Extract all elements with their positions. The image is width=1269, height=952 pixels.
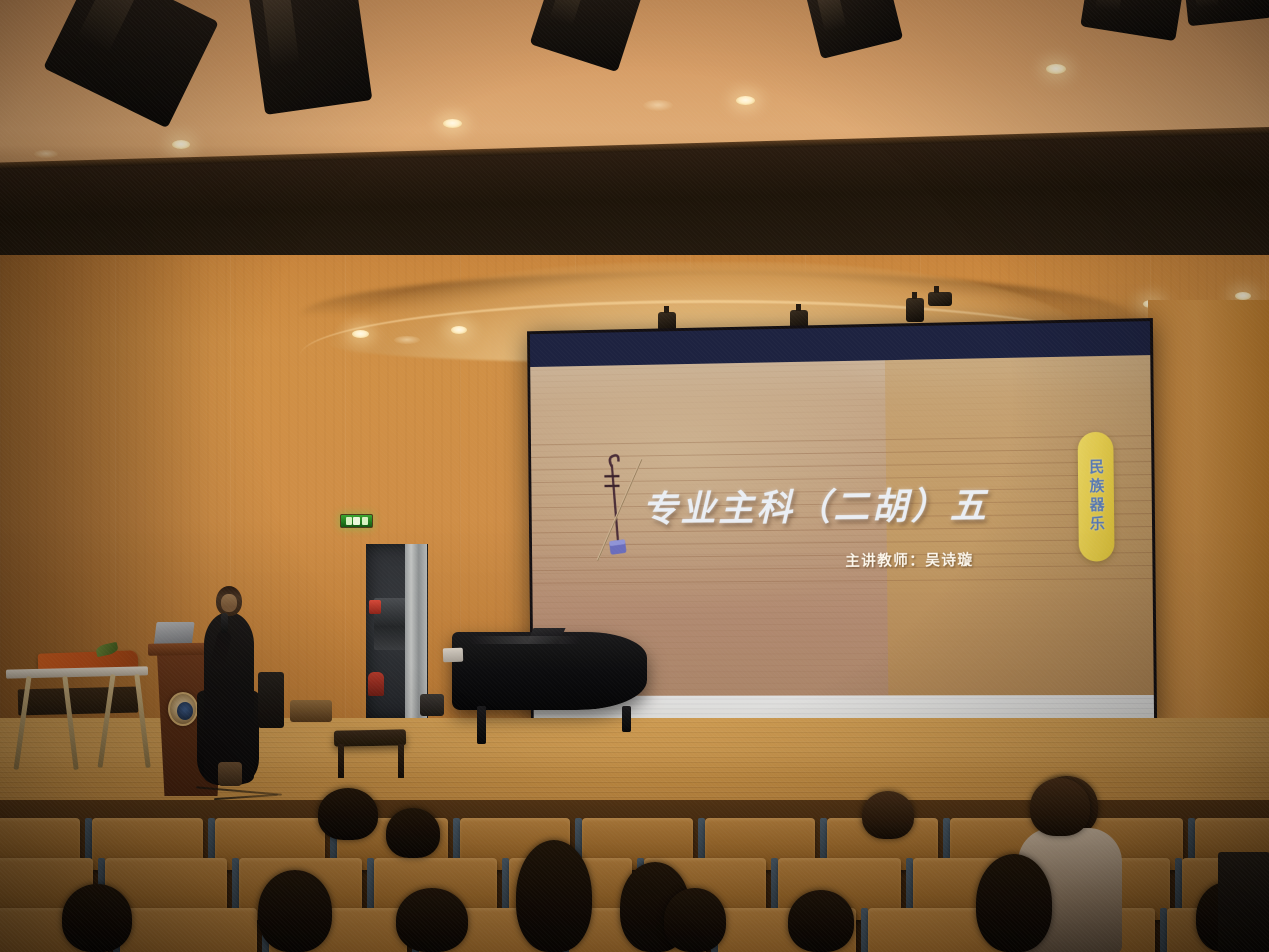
backstage-red-case [368, 672, 384, 696]
right-wall-panel [1148, 300, 1269, 735]
audience-head [976, 854, 1052, 952]
audience-head [664, 888, 726, 952]
ceiling-stage-light [248, 0, 373, 115]
cove-downlight [1235, 292, 1251, 300]
ceiling-vent [643, 100, 673, 111]
floor-bag [290, 700, 332, 722]
cove-downlight [451, 326, 467, 334]
ceiling-downlight [443, 119, 462, 128]
audience-seating [0, 800, 1269, 952]
presenter-face [221, 594, 237, 612]
ceiling-vent [34, 150, 58, 158]
audience-head [1030, 778, 1090, 836]
seat-divider [1160, 908, 1167, 952]
slide-category-badge-label: 民族器乐 [1085, 459, 1107, 535]
exit-arrow-icon [346, 517, 352, 525]
emergency-exit-sign [340, 514, 373, 528]
cove-stage-light [906, 298, 924, 322]
audience-head [258, 870, 332, 952]
backstage-red-object [369, 600, 381, 614]
audience-head [516, 840, 592, 952]
audience-head [862, 791, 914, 839]
audience-dark-object [1218, 852, 1269, 952]
lectern-emblem [168, 692, 198, 726]
audience-head [62, 884, 132, 952]
piano-leg [477, 706, 486, 744]
auditorium-seat [120, 908, 258, 952]
exit-door-icon [362, 517, 368, 525]
auditorium-photo: 专业主科（二胡）五 主讲教师：吴诗璇 民族器乐 [0, 0, 1269, 952]
audience-head [386, 808, 440, 858]
floor-crate [420, 694, 444, 716]
audience-head [396, 888, 468, 952]
handheld-microphone [221, 613, 228, 633]
cove-downlight [352, 330, 369, 338]
stage-monitor-speaker [258, 672, 284, 728]
piano-bench-leg [338, 744, 344, 778]
side-table-shelf [18, 687, 139, 716]
piano-bench-leg [398, 744, 404, 778]
presenter-feet [218, 762, 242, 786]
cove-stage-light [928, 292, 952, 306]
piano-bench [334, 729, 406, 746]
piano-leg [622, 706, 631, 732]
piano-lid-shine [470, 636, 580, 644]
ceiling-downlight [736, 96, 755, 105]
slide-subtitle: 主讲教师：吴诗璇 [845, 549, 973, 571]
slide-title: 专业主科（二胡）五 [642, 474, 1048, 532]
audience-head [788, 890, 854, 952]
exit-running-person-icon [353, 517, 360, 525]
ceiling-downlight [172, 140, 190, 149]
cove-vent [394, 336, 420, 344]
piano-keyboard [443, 648, 463, 663]
seat-divider [861, 908, 868, 952]
audience-head [318, 788, 378, 840]
ceiling-downlight [1046, 64, 1066, 74]
slide-category-badge: 民族器乐 [1078, 432, 1115, 562]
